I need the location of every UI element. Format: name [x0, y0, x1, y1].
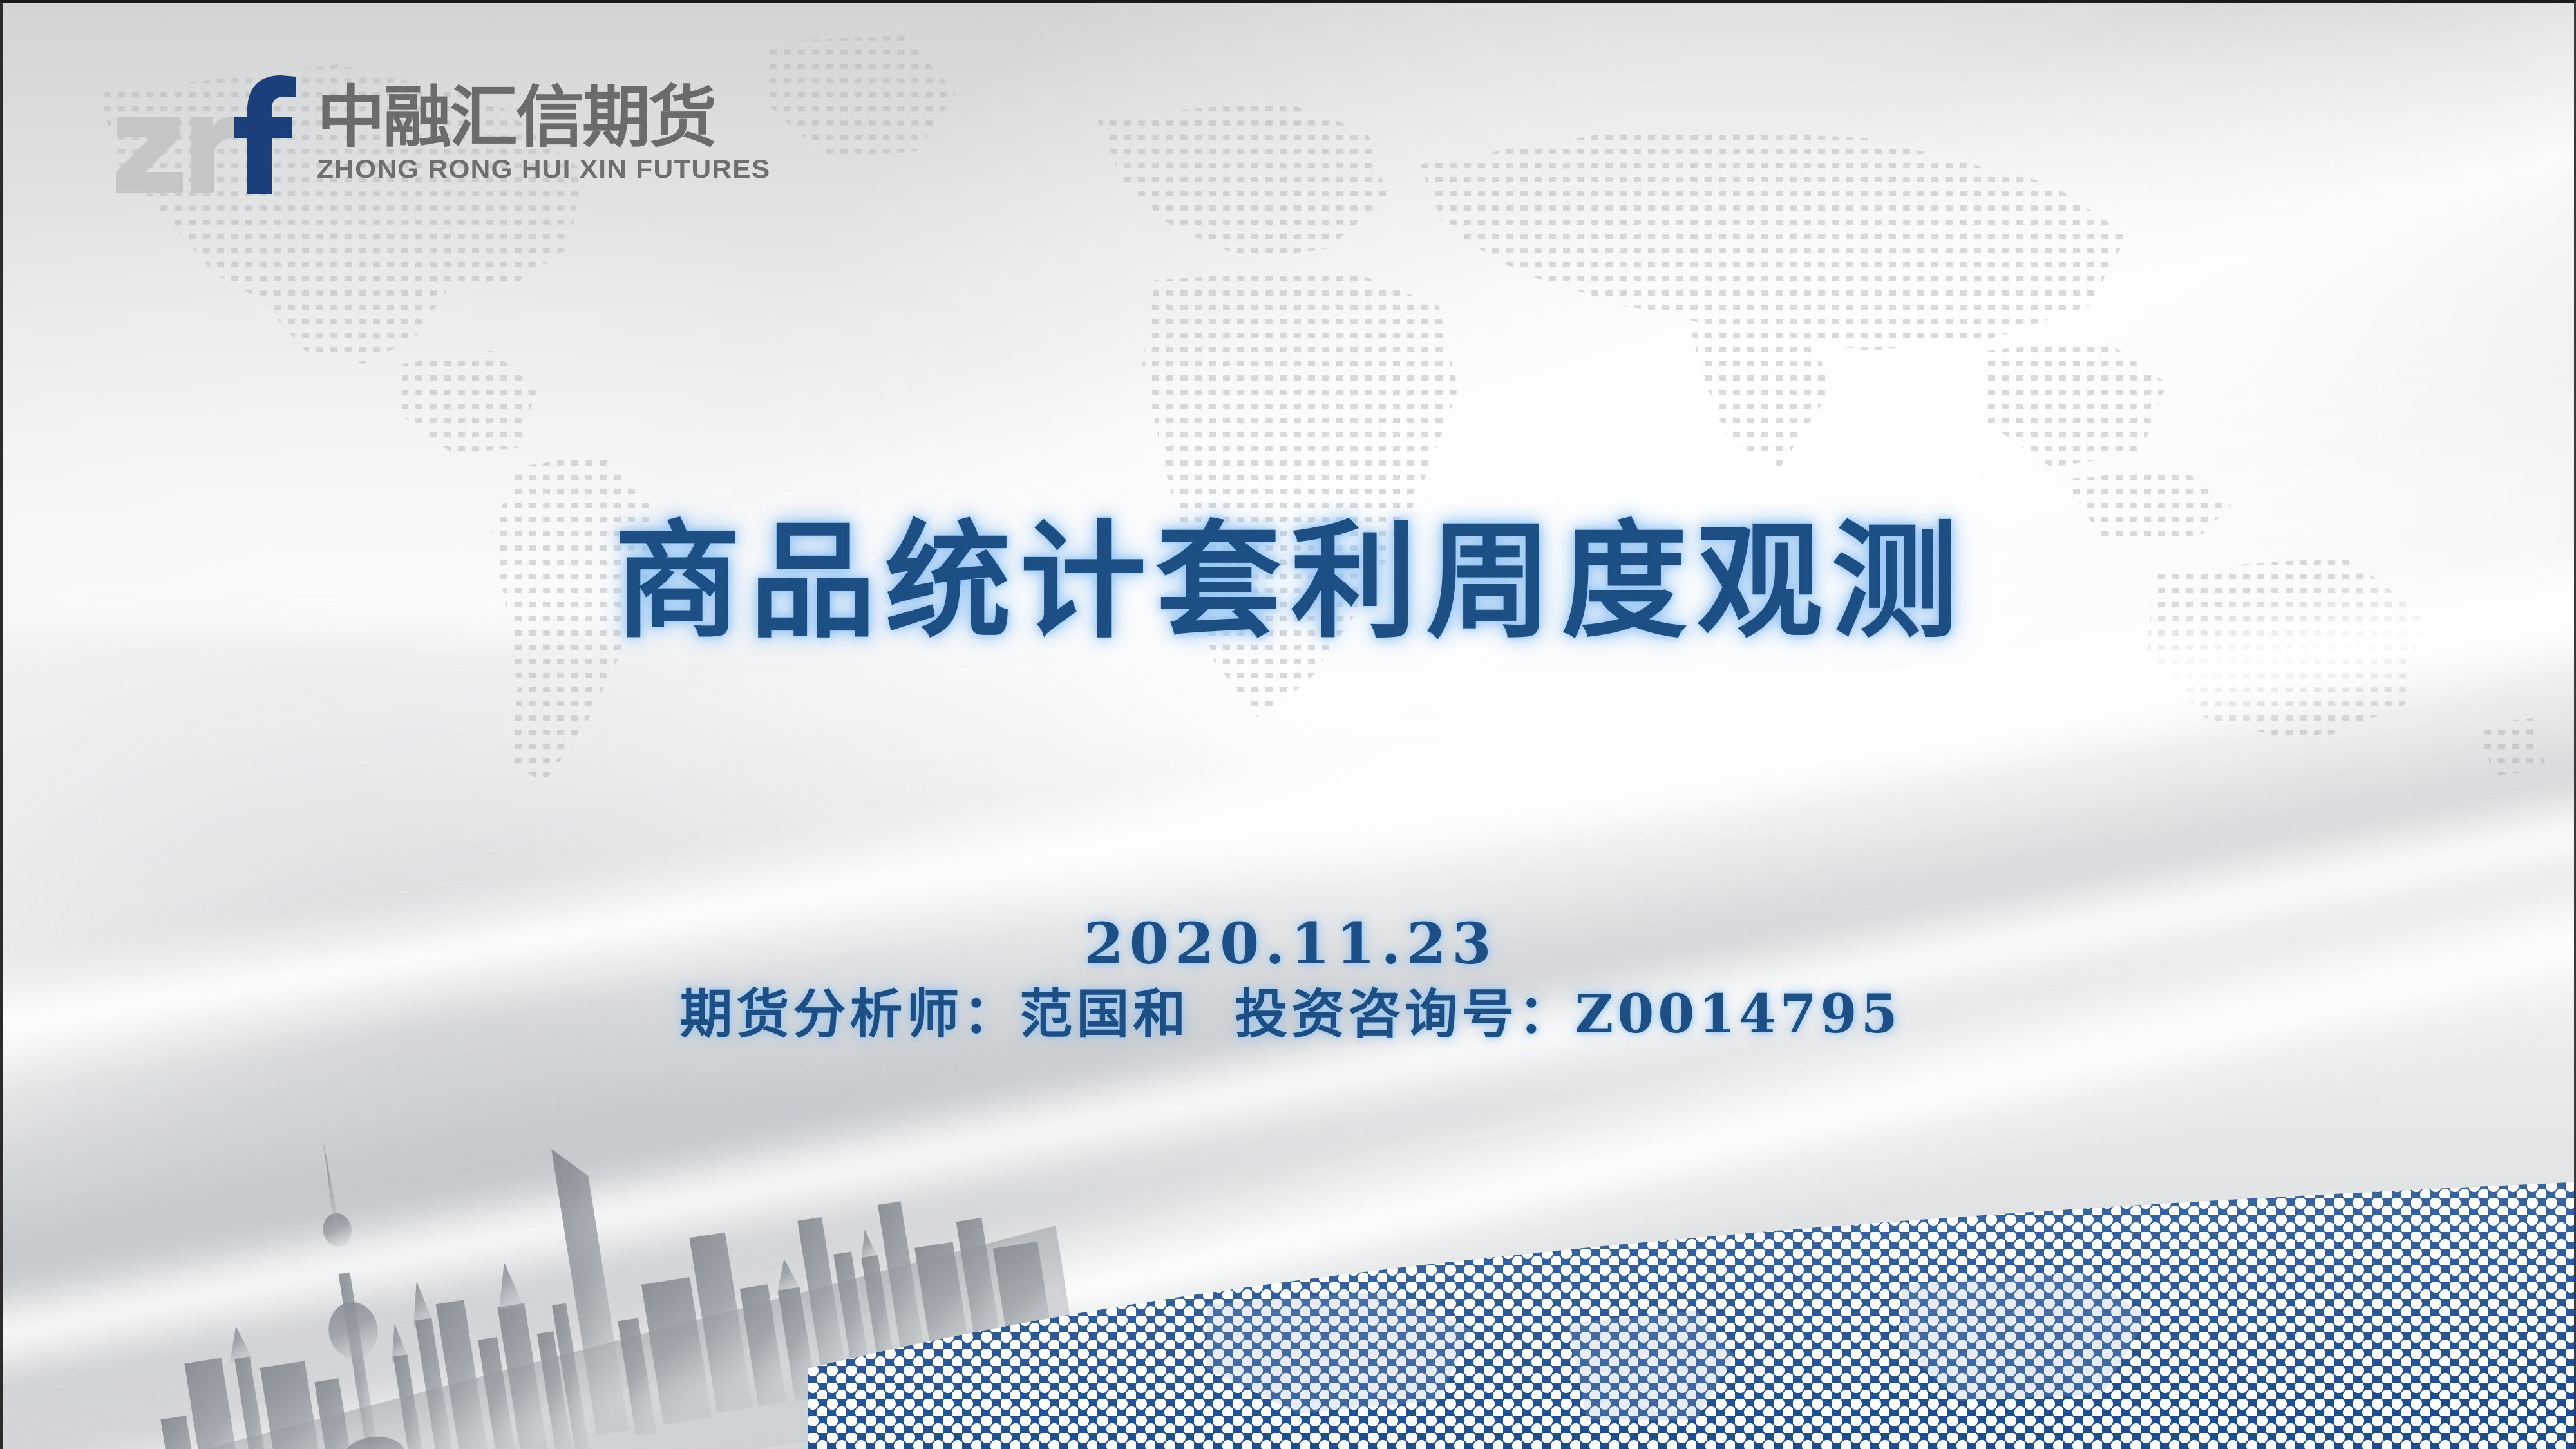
presentation-date: 2020.11.23 [3, 911, 2576, 976]
page-title: 商品统计套利周度观测 [3, 480, 2576, 662]
halftone-globe-decoration [808, 1098, 2576, 1449]
title-slide: 中融汇信期货 ZHONG RONG HUI XIN FUTURES 商品统计套利… [0, 0, 2576, 1449]
zrf-monogram-icon [112, 75, 299, 194]
shanghai-skyline-icon [0, 1034, 1072, 1449]
license-label: 投资咨询号： [1235, 983, 1575, 1045]
license-number: Z0014795 [1575, 983, 1901, 1045]
analyst-label: 期货分析师： [679, 983, 1019, 1045]
logo-company-en: ZHONG RONG HUI XIN FUTURES [317, 155, 770, 184]
logo-wordmark: 中融汇信期货 ZHONG RONG HUI XIN FUTURES [317, 75, 745, 184]
analyst-name: 范国和 [1019, 983, 1189, 1045]
logo-company-cn: 中融汇信期货 [317, 83, 753, 153]
light-streak-middle [0, 677, 2576, 1441]
title-slide-footer: 2020.11.23 期货分析师：范国和投资咨询号：Z0014795 [3, 911, 2576, 1045]
company-logo: 中融汇信期货 ZHONG RONG HUI XIN FUTURES [112, 75, 745, 194]
analyst-credentials: 期货分析师：范国和投资咨询号：Z0014795 [3, 984, 2576, 1045]
light-streak-lower [0, 733, 2576, 1449]
